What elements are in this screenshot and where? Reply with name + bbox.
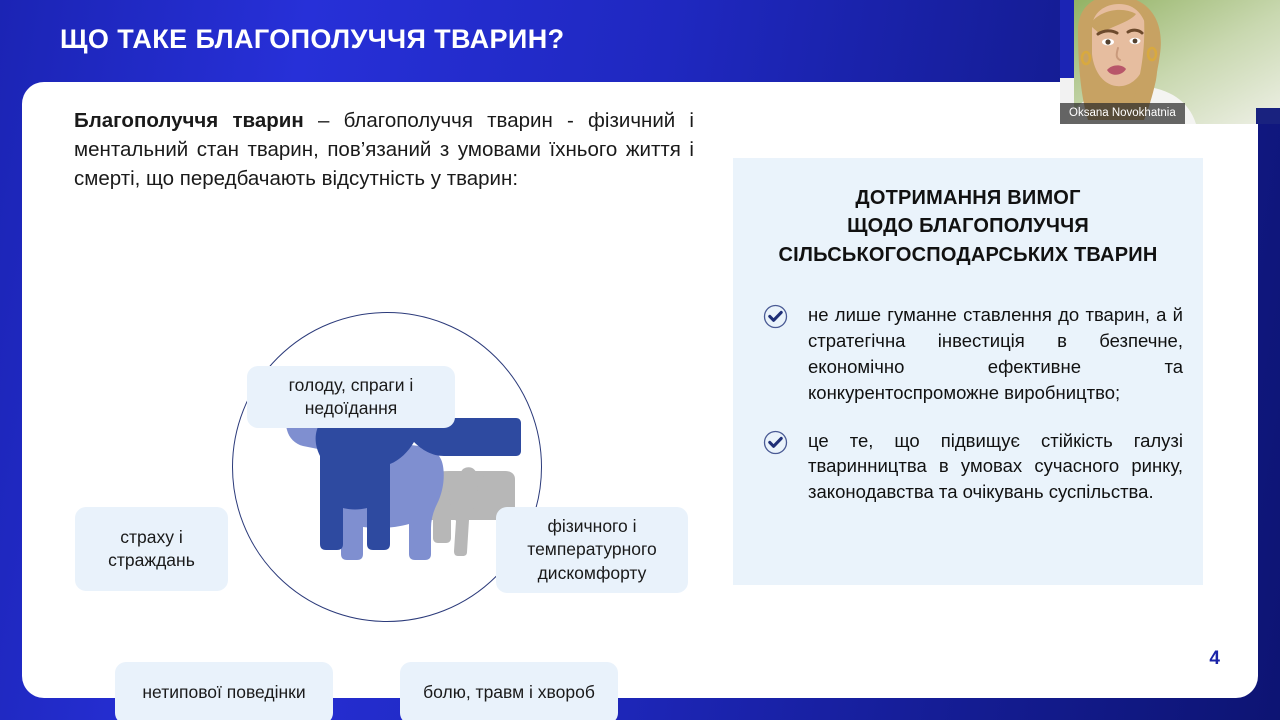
page-number: 4 — [1209, 648, 1220, 670]
diagram-chip-hunger[interactable]: голоду, спраги і недоїдання — [247, 366, 455, 428]
panel-title-line-3: СІЛЬСЬКОГОСПОДАРСЬКИХ ТВАРИН — [733, 241, 1203, 269]
diagram-chip-behaviour[interactable]: нетипової поведінки — [115, 662, 333, 720]
list-item: не лише гуманне ставлення до тварин, а й… — [759, 302, 1183, 406]
intro-paragraph: Благополуччя тварин – благополуччя твари… — [74, 106, 694, 193]
speaker-name-label: Oksana Novokhatnia — [1060, 103, 1185, 124]
list-item-text: це те, що підвищує стійкість галузі твар… — [808, 430, 1183, 503]
diagram-chip-discomfort[interactable]: фізичного і температурного дискомфорту — [496, 507, 688, 593]
content-card: Благополуччя тварин – благополуччя твари… — [22, 82, 1258, 698]
requirements-panel: ДОТРИМАННЯ ВИМОГ ЩОДО БЛАГОПОЛУЧЧЯ СІЛЬС… — [733, 158, 1203, 585]
requirements-bullet-list: не лише гуманне ставлення до тварин, а й… — [759, 302, 1183, 527]
speaker-video-overlay[interactable]: Oksana Novokhatnia — [1060, 0, 1280, 124]
page-title: ЩО ТАКЕ БЛАГОПОЛУЧЧЯ ТВАРИН? — [60, 24, 565, 55]
check-circle-icon — [763, 430, 788, 455]
list-item: це те, що підвищує стійкість галузі твар… — [759, 428, 1183, 506]
diagram-chip-pain[interactable]: болю, травм і хвороб — [400, 662, 618, 720]
panel-title-line-1: ДОТРИМАННЯ ВИМОГ — [733, 184, 1203, 212]
slide: ЩО ТАКЕ БЛАГОПОЛУЧЧЯ ТВАРИН? Благополучч… — [0, 0, 1280, 720]
five-freedoms-diagram: голоду, спраги і недоїдання страху і стр… — [52, 262, 692, 682]
list-item-text: не лише гуманне ставлення до тварин, а й… — [808, 304, 1183, 403]
diagram-chip-fear[interactable]: страху і страждань — [75, 507, 228, 591]
panel-title-line-2: ЩОДО БЛАГОПОЛУЧЧЯ — [733, 212, 1203, 240]
requirements-panel-title: ДОТРИМАННЯ ВИМОГ ЩОДО БЛАГОПОЛУЧЧЯ СІЛЬС… — [733, 184, 1203, 269]
intro-term: Благополуччя тварин — [74, 109, 304, 132]
check-circle-icon — [763, 304, 788, 329]
